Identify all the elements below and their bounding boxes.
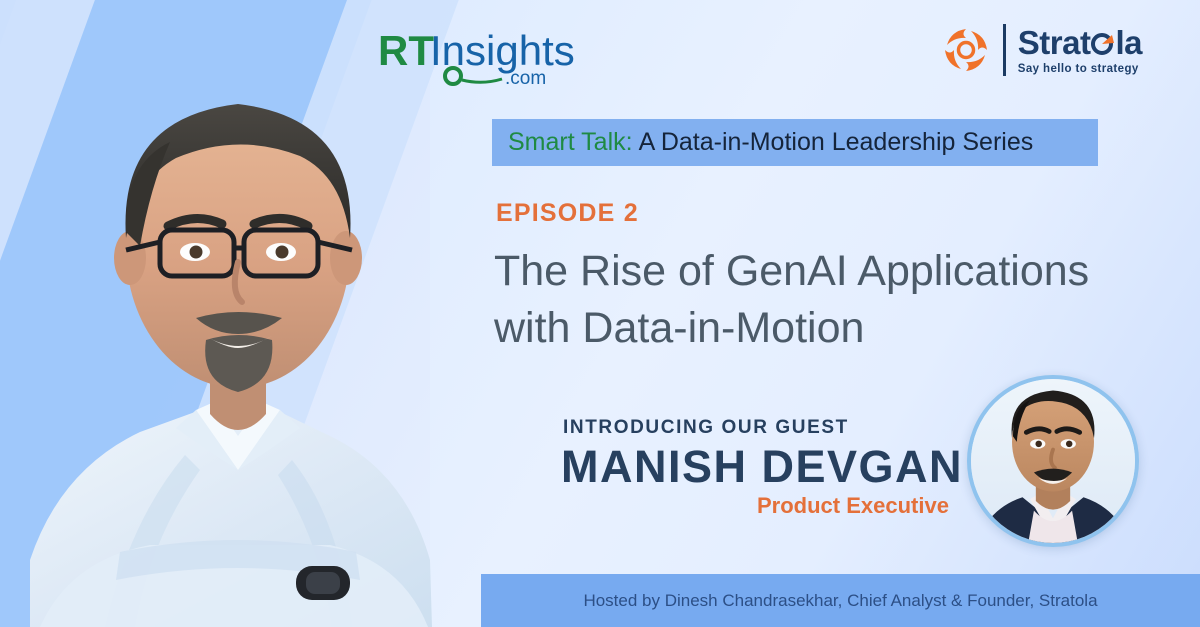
guest-intro-label: INTRODUCING OUR GUEST bbox=[563, 417, 849, 439]
stratola-o-glyph-icon bbox=[1090, 29, 1115, 54]
talk-title-line-1: The Rise of GenAI Applications bbox=[494, 243, 1139, 300]
host-credit: Hosted by Dinesh Chandrasekhar, Chief An… bbox=[583, 591, 1097, 611]
host-portrait bbox=[0, 0, 500, 627]
promo-graphic: RT Insights .com Strat bbox=[0, 0, 1200, 627]
rtinsights-rt: RT bbox=[378, 27, 434, 74]
swirl-circle-icon bbox=[941, 25, 991, 75]
series-banner: Smart Talk: A Data-in-Motion Leadership … bbox=[492, 119, 1098, 166]
talk-title-line-2: with Data-in-Motion bbox=[494, 300, 1139, 357]
stratola-logo[interactable]: Strat la Say hello to strategy bbox=[941, 24, 1142, 76]
stratola-name-part1: Strat bbox=[1018, 26, 1091, 59]
footer-bar: Hosted by Dinesh Chandrasekhar, Chief An… bbox=[481, 574, 1200, 627]
logo-divider bbox=[1003, 24, 1006, 76]
guest-name: MANISH DEVGAN bbox=[561, 441, 963, 493]
episode-label: EPISODE 2 bbox=[496, 199, 639, 228]
series-prefix-label: Smart Talk: bbox=[508, 128, 633, 157]
stratola-name-part2: la bbox=[1115, 26, 1142, 59]
guest-role: Product Executive bbox=[757, 493, 949, 519]
stratola-tagline: Say hello to strategy bbox=[1018, 63, 1142, 75]
stratola-wordmark: Strat la bbox=[1018, 26, 1142, 59]
rtinsights-dotcom: .com bbox=[505, 68, 546, 87]
rtinsights-logo[interactable]: RT Insights .com bbox=[378, 25, 593, 87]
avatar bbox=[967, 375, 1139, 547]
page-title: The Rise of GenAI Applications with Data… bbox=[494, 243, 1139, 357]
series-title-label: A Data-in-Motion Leadership Series bbox=[639, 128, 1034, 157]
